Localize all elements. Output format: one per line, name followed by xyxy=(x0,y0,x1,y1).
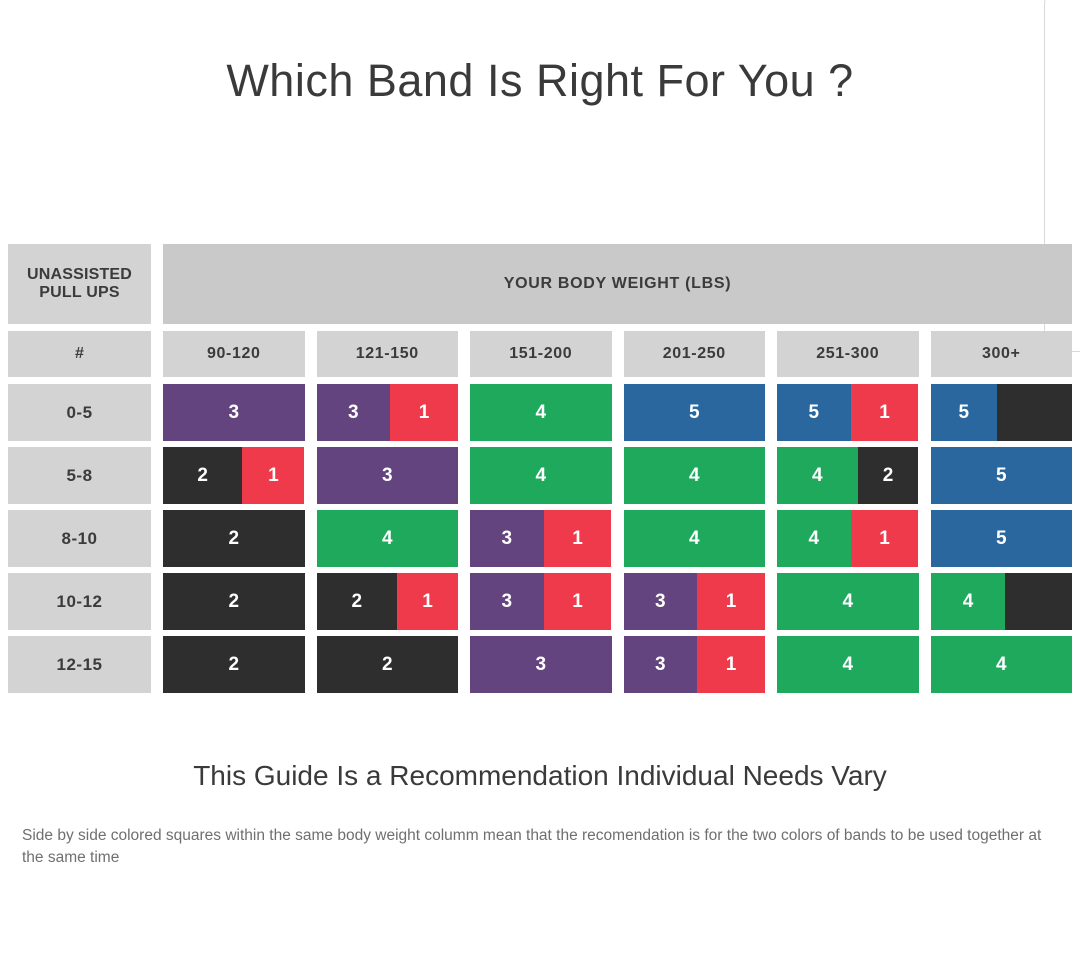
band-cell: 5 xyxy=(931,510,1073,567)
band-segment-green: 4 xyxy=(624,447,766,504)
band-segment-red: 1 xyxy=(544,573,612,630)
band-segment-purple: 3 xyxy=(470,573,544,630)
band-segment-green: 4 xyxy=(470,384,612,441)
band-segment-purple: 3 xyxy=(470,636,612,693)
table-row: 0-533145515 xyxy=(8,384,1072,441)
band-segment-red: 1 xyxy=(390,384,458,441)
band-cell: 42 xyxy=(777,447,919,504)
band-cell: 3 xyxy=(317,447,459,504)
band-segment-green: 4 xyxy=(624,510,766,567)
band-segment-black: 2 xyxy=(163,510,305,567)
band-segment-green: 4 xyxy=(777,636,919,693)
band-cell: 2 xyxy=(317,636,459,693)
band-segment-red: 1 xyxy=(397,573,458,630)
table-row: 10-12221313144 xyxy=(8,573,1072,630)
band-segment-red: 1 xyxy=(544,510,612,567)
band-segment-black xyxy=(1005,573,1072,630)
band-cell: 51 xyxy=(777,384,919,441)
page-title: Which Band Is Right For You ? xyxy=(0,30,1080,106)
band-guide-infographic: Which Band Is Right For You ? UNASSISTED… xyxy=(0,30,1080,962)
band-segment-green: 4 xyxy=(317,510,459,567)
band-cell: 2 xyxy=(163,636,305,693)
band-cell: 31 xyxy=(624,636,766,693)
band-segment-blue: 5 xyxy=(624,384,766,441)
band-cell: 4 xyxy=(624,510,766,567)
band-segment-green: 4 xyxy=(931,636,1073,693)
footer-note: Side by side colored squares within the … xyxy=(22,825,1054,869)
row-header-10-12: 10-12 xyxy=(8,573,151,630)
band-cell: 5 xyxy=(931,384,1073,441)
band-cell: 3 xyxy=(163,384,305,441)
band-cell: 4 xyxy=(777,636,919,693)
band-segment-purple: 3 xyxy=(470,510,544,567)
column-header-151-200: 151-200 xyxy=(470,331,612,377)
table-row: 12-152233144 xyxy=(8,636,1072,693)
row-header-8-10: 8-10 xyxy=(8,510,151,567)
band-cell: 4 xyxy=(624,447,766,504)
band-cell: 4 xyxy=(777,573,919,630)
band-segment-purple: 3 xyxy=(317,447,459,504)
row-header-12-15: 12-15 xyxy=(8,636,151,693)
band-segment-red: 1 xyxy=(697,636,765,693)
band-cell: 4 xyxy=(931,636,1073,693)
band-segment-blue: 5 xyxy=(931,447,1073,504)
column-header-251-300: 251-300 xyxy=(777,331,919,377)
band-segment-green: 4 xyxy=(931,573,1006,630)
footer-headline: This Guide Is a Recommendation Individua… xyxy=(0,760,1080,792)
band-cell: 5 xyxy=(931,447,1073,504)
band-segment-red: 1 xyxy=(242,447,304,504)
band-cell: 2 xyxy=(163,573,305,630)
column-header-121-150: 121-150 xyxy=(317,331,459,377)
row-header-0-5: 0-5 xyxy=(8,384,151,441)
band-cell: 4 xyxy=(317,510,459,567)
table-header-band-row: UNASSISTED PULL UPS YOUR BODY WEIGHT (LB… xyxy=(8,244,1072,324)
band-segment-green: 4 xyxy=(777,510,851,567)
row-header-5-8: 5-8 xyxy=(8,447,151,504)
band-segment-blue: 5 xyxy=(931,384,998,441)
band-cell: 4 xyxy=(470,384,612,441)
band-segment-black: 2 xyxy=(858,447,919,504)
band-segment-black: 2 xyxy=(163,447,242,504)
band-cell: 3 xyxy=(470,636,612,693)
band-segment-black: 2 xyxy=(163,573,305,630)
band-segment-blue: 5 xyxy=(777,384,851,441)
column-header-hash: # xyxy=(8,331,151,377)
column-header-300-: 300+ xyxy=(931,331,1073,377)
band-cell: 5 xyxy=(624,384,766,441)
corner-header-line2: PULL UPS xyxy=(39,284,119,302)
band-recommendation-table: UNASSISTED PULL UPS YOUR BODY WEIGHT (LB… xyxy=(8,244,1072,699)
band-cell: 31 xyxy=(317,384,459,441)
band-segment-purple: 3 xyxy=(624,573,698,630)
band-cell: 31 xyxy=(624,573,766,630)
table-row: 8-1024314415 xyxy=(8,510,1072,567)
corner-header-unassisted-pullups: UNASSISTED PULL UPS xyxy=(8,244,151,324)
band-segment-red: 1 xyxy=(851,510,919,567)
bodyweight-group-header: YOUR BODY WEIGHT (LBS) xyxy=(163,244,1072,324)
band-cell: 4 xyxy=(470,447,612,504)
band-cell: 21 xyxy=(317,573,459,630)
band-segment-green: 4 xyxy=(777,573,919,630)
band-segment-red: 1 xyxy=(697,573,765,630)
corner-header-line1: UNASSISTED xyxy=(27,266,132,284)
band-segment-black xyxy=(997,384,1072,441)
band-cell: 21 xyxy=(163,447,305,504)
band-segment-purple: 3 xyxy=(163,384,305,441)
band-cell: 4 xyxy=(931,573,1073,630)
table-column-header-row: # 90-120121-150151-200201-250251-300300+ xyxy=(8,331,1072,377)
band-cell: 31 xyxy=(470,573,612,630)
band-segment-black: 2 xyxy=(317,573,398,630)
band-segment-purple: 3 xyxy=(317,384,391,441)
column-header-201-250: 201-250 xyxy=(624,331,766,377)
column-header-90-120: 90-120 xyxy=(163,331,305,377)
band-segment-purple: 3 xyxy=(624,636,698,693)
band-segment-blue: 5 xyxy=(931,510,1073,567)
band-segment-red: 1 xyxy=(851,384,919,441)
band-segment-black: 2 xyxy=(163,636,305,693)
band-cell: 2 xyxy=(163,510,305,567)
band-segment-black: 2 xyxy=(317,636,459,693)
band-segment-green: 4 xyxy=(777,447,858,504)
table-body: 0-5331455155-8213444258-102431441510-122… xyxy=(8,384,1072,693)
band-segment-green: 4 xyxy=(470,447,612,504)
band-cell: 31 xyxy=(470,510,612,567)
table-row: 5-821344425 xyxy=(8,447,1072,504)
band-cell: 41 xyxy=(777,510,919,567)
